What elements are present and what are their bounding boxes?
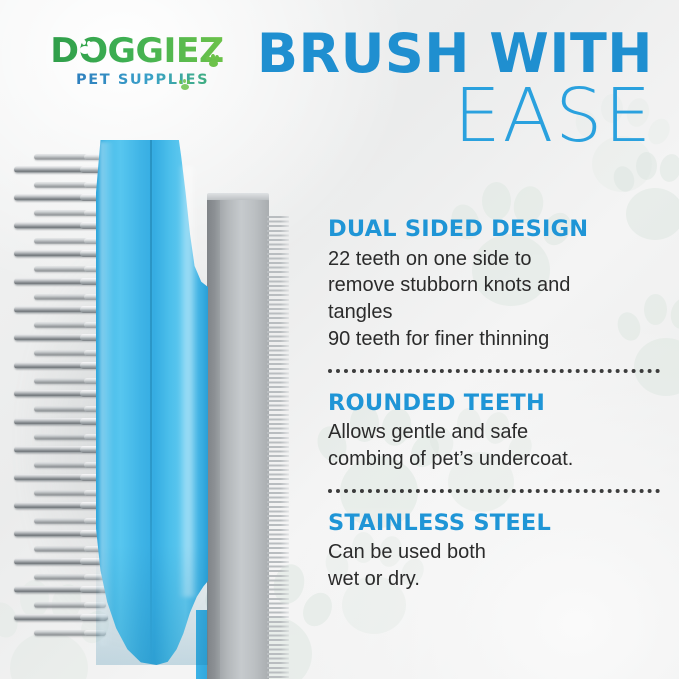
feature-body-line: 22 teeth on one side to: [328, 246, 660, 273]
brush-handle: [96, 140, 208, 665]
handle-bottom-shading: [96, 545, 208, 665]
feature-item: DUAL SIDED DESIGN 22 teeth on one side t…: [328, 216, 660, 353]
headline-line-2: EASE: [257, 79, 653, 153]
feature-body-line: 90 teeth for finer thinning: [328, 326, 660, 353]
brand-logo: DOGGIEZ PET SUPPLIES: [52, 34, 242, 96]
comb-plate-edge: [207, 200, 220, 679]
feature-title: ROUNDED TEETH: [328, 390, 660, 417]
paw-print-icon: [179, 79, 191, 91]
fine-teeth: [267, 216, 289, 679]
feature-body-line: tangles: [328, 299, 660, 326]
infographic-canvas: DOGGIEZ PET SUPPLIES BRUSH WITH EASE: [0, 0, 679, 679]
feature-body: Allows gentle and safe combing of pet’s …: [328, 419, 660, 473]
feature-title: DUAL SIDED DESIGN: [328, 216, 660, 243]
feature-body-line: wet or dry.: [328, 566, 660, 593]
handle-highlight-right: [178, 166, 198, 597]
fine-comb-plate: [207, 200, 289, 679]
page-title: BRUSH WITH EASE: [257, 26, 653, 153]
product-image: [0, 140, 310, 679]
dotted-divider: [328, 489, 660, 493]
feature-body-line: Allows gentle and safe: [328, 419, 660, 446]
feature-item: ROUNDED TEETH Allows gentle and safe com…: [328, 390, 660, 473]
feature-body: Can be used both wet or dry.: [328, 539, 660, 593]
feature-list: DUAL SIDED DESIGN 22 teeth on one side t…: [328, 216, 660, 593]
feature-item: STAINLESS STEEL Can be used both wet or …: [328, 510, 660, 593]
paw-print-icon: [206, 54, 221, 69]
dotted-divider: [328, 369, 660, 373]
feature-body: 22 teeth on one side to remove stubborn …: [328, 246, 660, 353]
feature-body-line: combing of pet’s undercoat.: [328, 446, 660, 473]
paw-print-icon: [77, 40, 93, 56]
feature-body-line: remove stubborn knots and: [328, 272, 660, 299]
feature-body-line: Can be used both: [328, 539, 660, 566]
feature-title: STAINLESS STEEL: [328, 510, 660, 537]
